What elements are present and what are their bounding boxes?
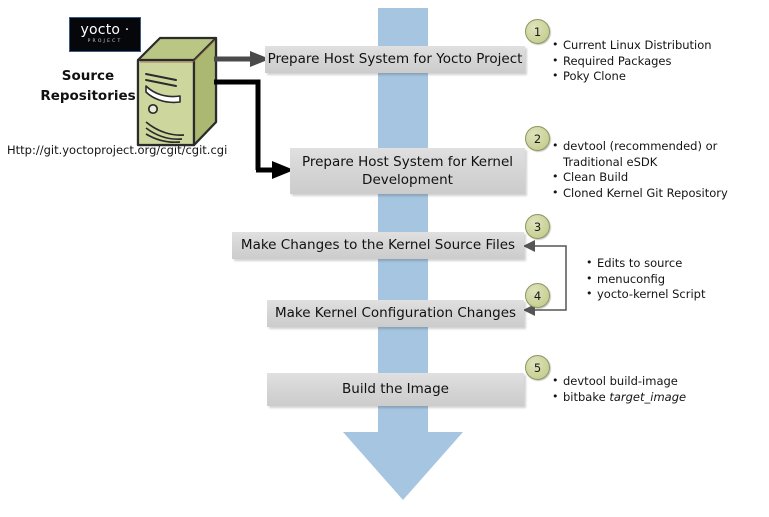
step-box-2-label-line1: Prepare Host System for Kernel: [302, 154, 513, 170]
step-box-1-label: Prepare Host System for Yocto Project: [268, 50, 523, 68]
list-item: menuconfig: [586, 272, 766, 288]
source-label-line2: Repositories: [36, 86, 140, 106]
list-item: Cloned Kernel Git Repository: [552, 186, 764, 202]
step-badge-5: 5: [525, 355, 550, 380]
step-badge-4: 4: [525, 283, 550, 308]
step-box-4-label: Make Kernel Configuration Changes: [275, 304, 516, 322]
step-badge-3-number: 3: [534, 220, 541, 234]
step-badge-4-number: 4: [534, 289, 541, 303]
step-box-prepare-host-yocto[interactable]: Prepare Host System for Yocto Project: [265, 46, 525, 73]
diagram-canvas: yocto · PROJECT Source Repositories Http…: [0, 0, 769, 517]
bitbake-command: bitbake: [563, 390, 609, 404]
step-box-3-label: Make Changes to the Kernel Source Files: [241, 236, 515, 254]
step-badge-2-number: 2: [534, 132, 541, 146]
yocto-project-logo: yocto · PROJECT: [69, 17, 141, 52]
step-box-build-the-image[interactable]: Build the Image: [267, 373, 524, 406]
step-box-make-kernel-config-changes[interactable]: Make Kernel Configuration Changes: [267, 300, 524, 327]
step-badge-1-number: 1: [534, 25, 541, 39]
step-box-2-label: Prepare Host System for Kernel Developme…: [302, 153, 513, 189]
list-item: Poky Clone: [552, 69, 764, 85]
step-box-make-kernel-source-changes[interactable]: Make Changes to the Kernel Source Files: [232, 232, 524, 259]
steps-3-and-4-bullets: Edits to source menuconfig yocto-kernel …: [586, 256, 766, 303]
step-box-5-label: Build the Image: [342, 380, 449, 398]
step-box-prepare-host-kernel[interactable]: Prepare Host System for Kernel Developme…: [290, 148, 525, 194]
source-label-line1: Source: [36, 66, 140, 86]
list-item: Clean Build: [552, 170, 764, 186]
list-item-line2: Traditional eSDK: [563, 155, 764, 171]
connector-bracket-steps-3-4: [520, 237, 576, 319]
list-item: yocto-kernel Script: [586, 287, 766, 303]
list-item: devtool (recommended) or Traditional eSD…: [552, 139, 764, 170]
logo-wordmark: yocto ·: [81, 24, 130, 37]
step-badge-3: 3: [525, 214, 550, 239]
list-item: Edits to source: [586, 256, 766, 272]
list-item: Required Packages: [552, 54, 764, 70]
flow-arrow-head-icon: [343, 432, 463, 500]
list-item: devtool build-image: [552, 374, 752, 390]
list-item: bitbake target_image: [552, 390, 752, 406]
source-repositories-label: Source Repositories: [36, 66, 140, 106]
server-icon: [136, 36, 218, 147]
step-2-bullets: devtool (recommended) or Traditional eSD…: [552, 139, 764, 201]
step-badge-1: 1: [525, 19, 550, 44]
bitbake-target-arg: target_image: [609, 390, 686, 404]
step-5-bullets: devtool build-image bitbake target_image: [552, 374, 752, 405]
list-item-line1: devtool (recommended) or: [563, 139, 717, 153]
step-badge-2: 2: [525, 126, 550, 151]
list-item: Current Linux Distribution: [552, 38, 764, 54]
step-box-2-label-line2: Development: [362, 172, 453, 188]
step-badge-5-number: 5: [534, 361, 541, 375]
step-1-bullets: Current Linux Distribution Required Pack…: [552, 38, 764, 85]
logo-subtext: PROJECT: [88, 38, 123, 45]
